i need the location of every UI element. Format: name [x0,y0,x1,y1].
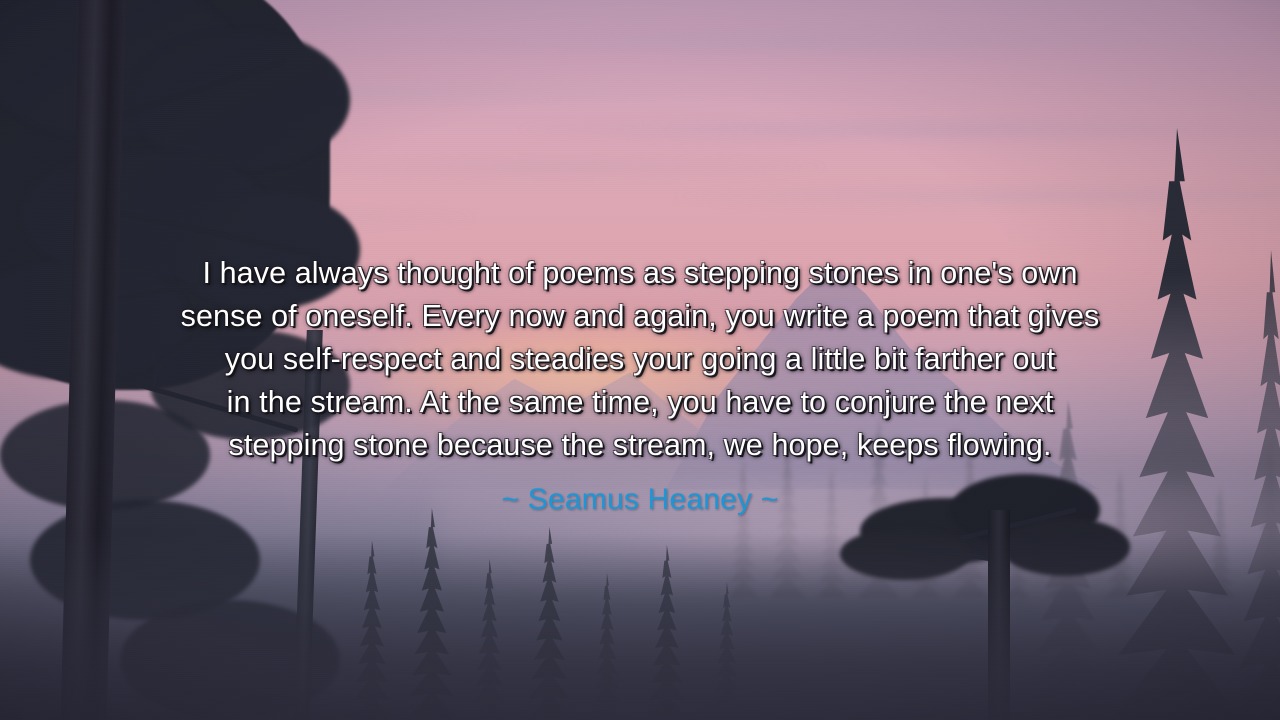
quote-attribution: ~ Seamus Heaney ~ [502,467,779,517]
quote-text: I have always thought of poems as steppi… [80,252,1200,467]
quote-card-screen: I have always thought of poems as steppi… [0,0,1280,720]
quote-overlay: I have always thought of poems as steppi… [0,0,1280,720]
